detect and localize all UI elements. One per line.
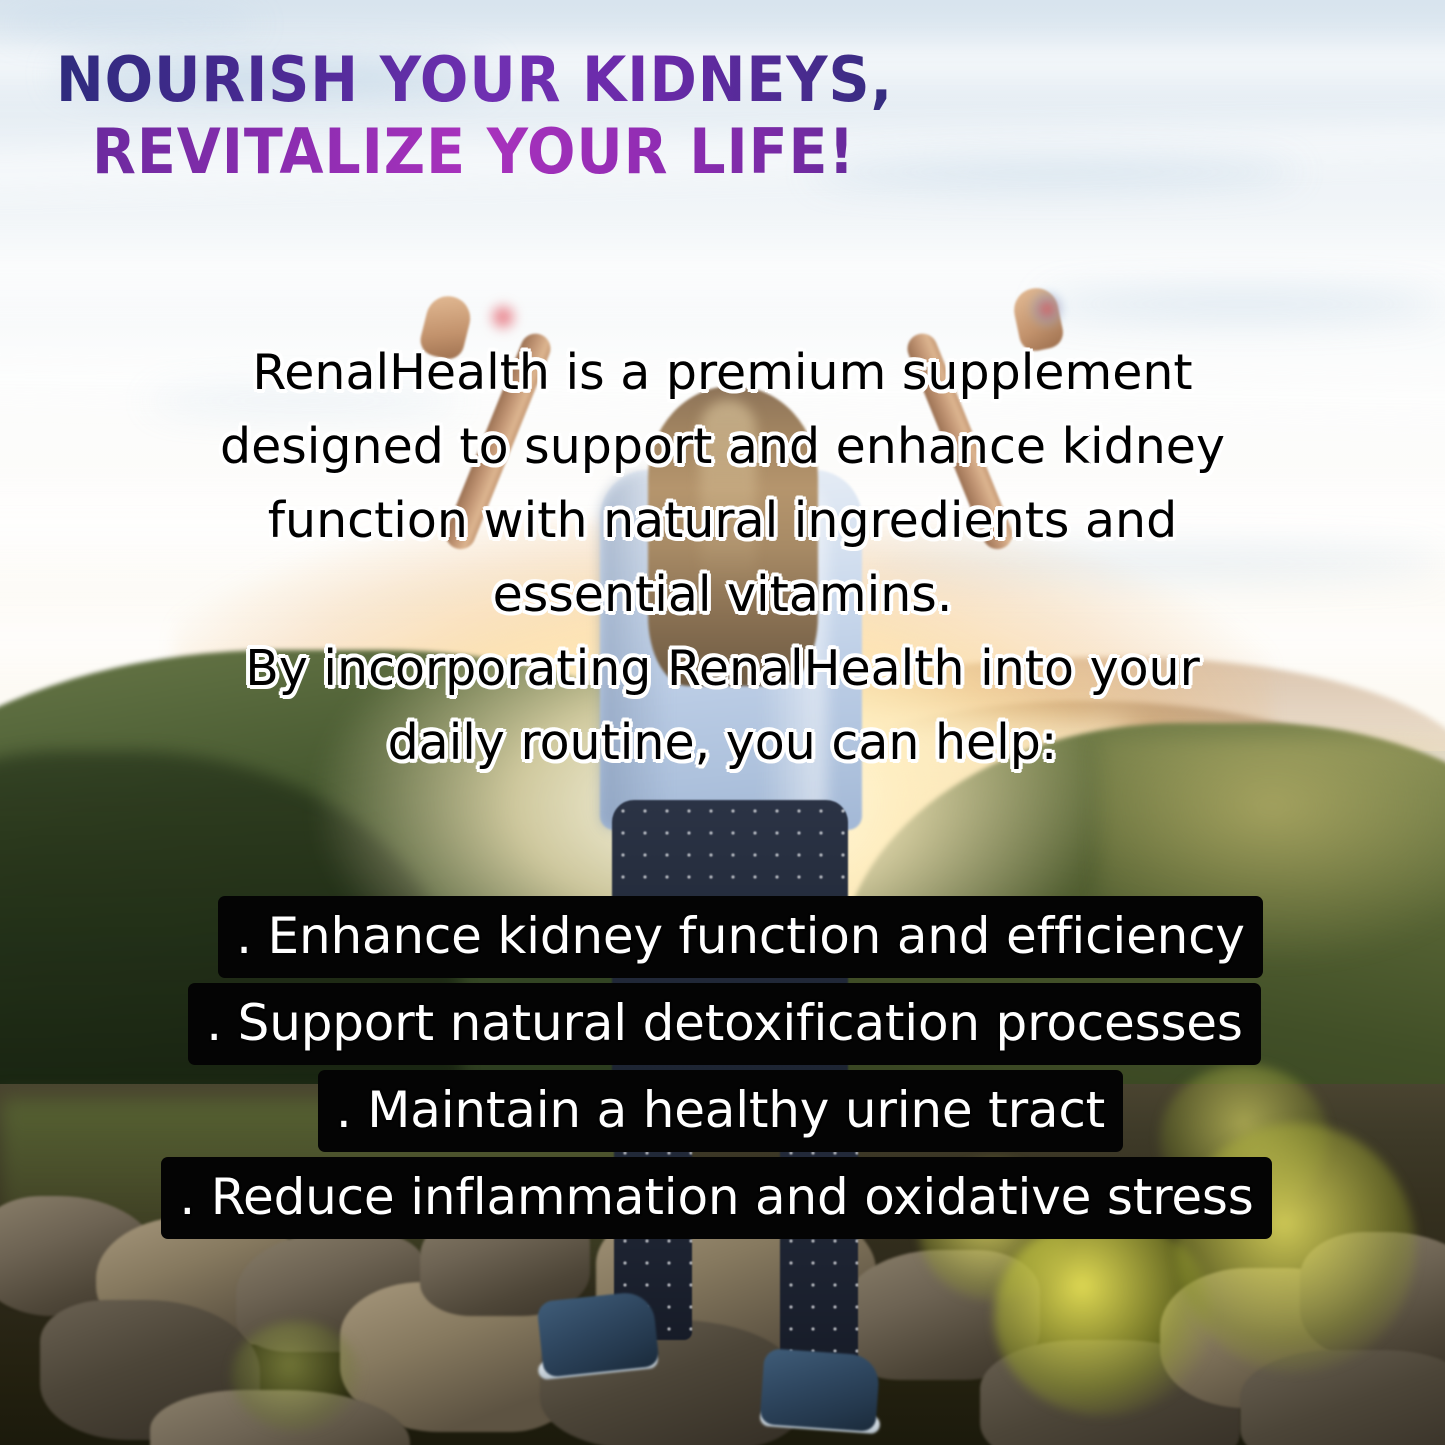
body-line: daily routine, you can help: bbox=[0, 706, 1445, 780]
headline-line-1: NOURISH YOUR KIDNEYS, bbox=[56, 44, 893, 116]
benefit-item: . Reduce inflammation and oxidative stre… bbox=[161, 1157, 1271, 1239]
benefit-item: . Enhance kidney function and efficiency bbox=[218, 896, 1263, 978]
body-line: By incorporating RenalHealth into your bbox=[0, 632, 1445, 706]
hiking-shoe-right bbox=[759, 1348, 880, 1432]
hiking-shoe-left bbox=[536, 1290, 659, 1378]
benefits-list: . Enhance kidney function and efficiency… bbox=[0, 896, 1445, 1244]
body-line: essential vitamins. bbox=[0, 558, 1445, 632]
body-line: RenalHealth is a premium supplement bbox=[0, 336, 1445, 410]
benefit-item: . Support natural detoxification process… bbox=[188, 983, 1260, 1065]
hand-sun-flare bbox=[488, 300, 518, 334]
body-copy: RenalHealth is a premium supplement desi… bbox=[0, 336, 1445, 780]
promo-poster: NOURISH YOUR KIDNEYS, REVITALIZE YOUR LI… bbox=[0, 0, 1445, 1445]
body-line: designed to support and enhance kidney bbox=[0, 410, 1445, 484]
hand-sun-flare bbox=[1032, 292, 1062, 326]
benefit-item: . Maintain a healthy urine tract bbox=[318, 1070, 1123, 1152]
body-line: function with natural ingredients and bbox=[0, 484, 1445, 558]
headline-line-2: REVITALIZE YOUR LIFE! bbox=[92, 116, 896, 188]
headline: NOURISH YOUR KIDNEYS, REVITALIZE YOUR LI… bbox=[56, 44, 966, 188]
